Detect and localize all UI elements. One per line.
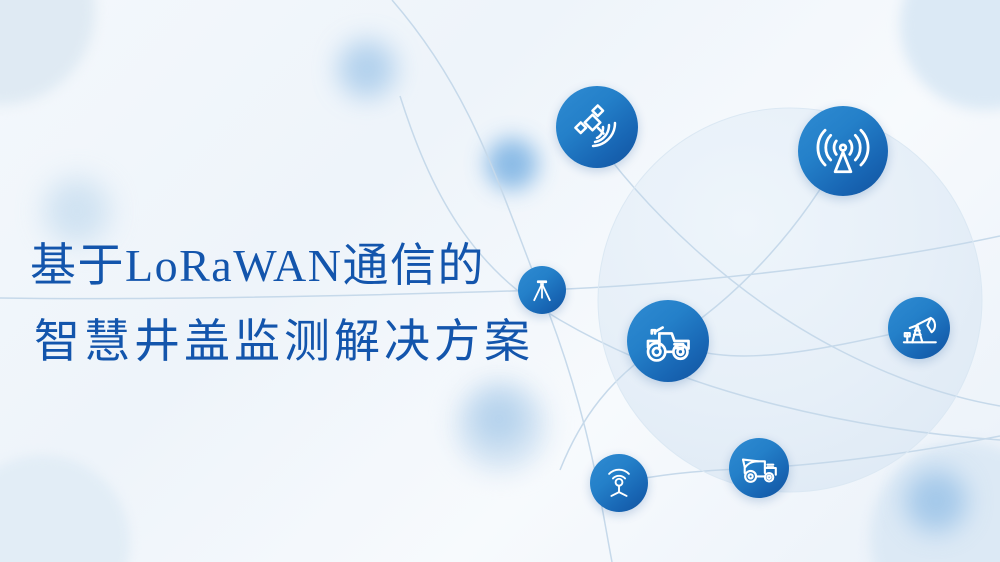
title-line-2: 智慧井盖监测解决方案: [30, 304, 590, 380]
tractor-icon: [641, 314, 695, 368]
slide-title: 基于LoRaWAN通信的 智慧井盖监测解决方案: [30, 228, 590, 380]
node-oil-pumpjack[interactable]: [888, 297, 950, 359]
node-signal-beacon[interactable]: [590, 454, 648, 512]
node-tractor[interactable]: [627, 300, 709, 382]
signal-beacon-icon: [600, 464, 638, 502]
node-satellite[interactable]: [556, 86, 638, 168]
oil-pumpjack-icon: [898, 307, 940, 349]
node-radio-tower[interactable]: [798, 106, 888, 196]
title-line-1: 基于LoRaWAN通信的: [30, 228, 590, 304]
node-harvester[interactable]: [729, 438, 789, 498]
harvester-icon: [738, 447, 780, 489]
slide-canvas: 基于LoRaWAN通信的 智慧井盖监测解决方案: [0, 0, 1000, 562]
radio-tower-icon: [815, 123, 871, 179]
satellite-icon: [572, 102, 622, 152]
